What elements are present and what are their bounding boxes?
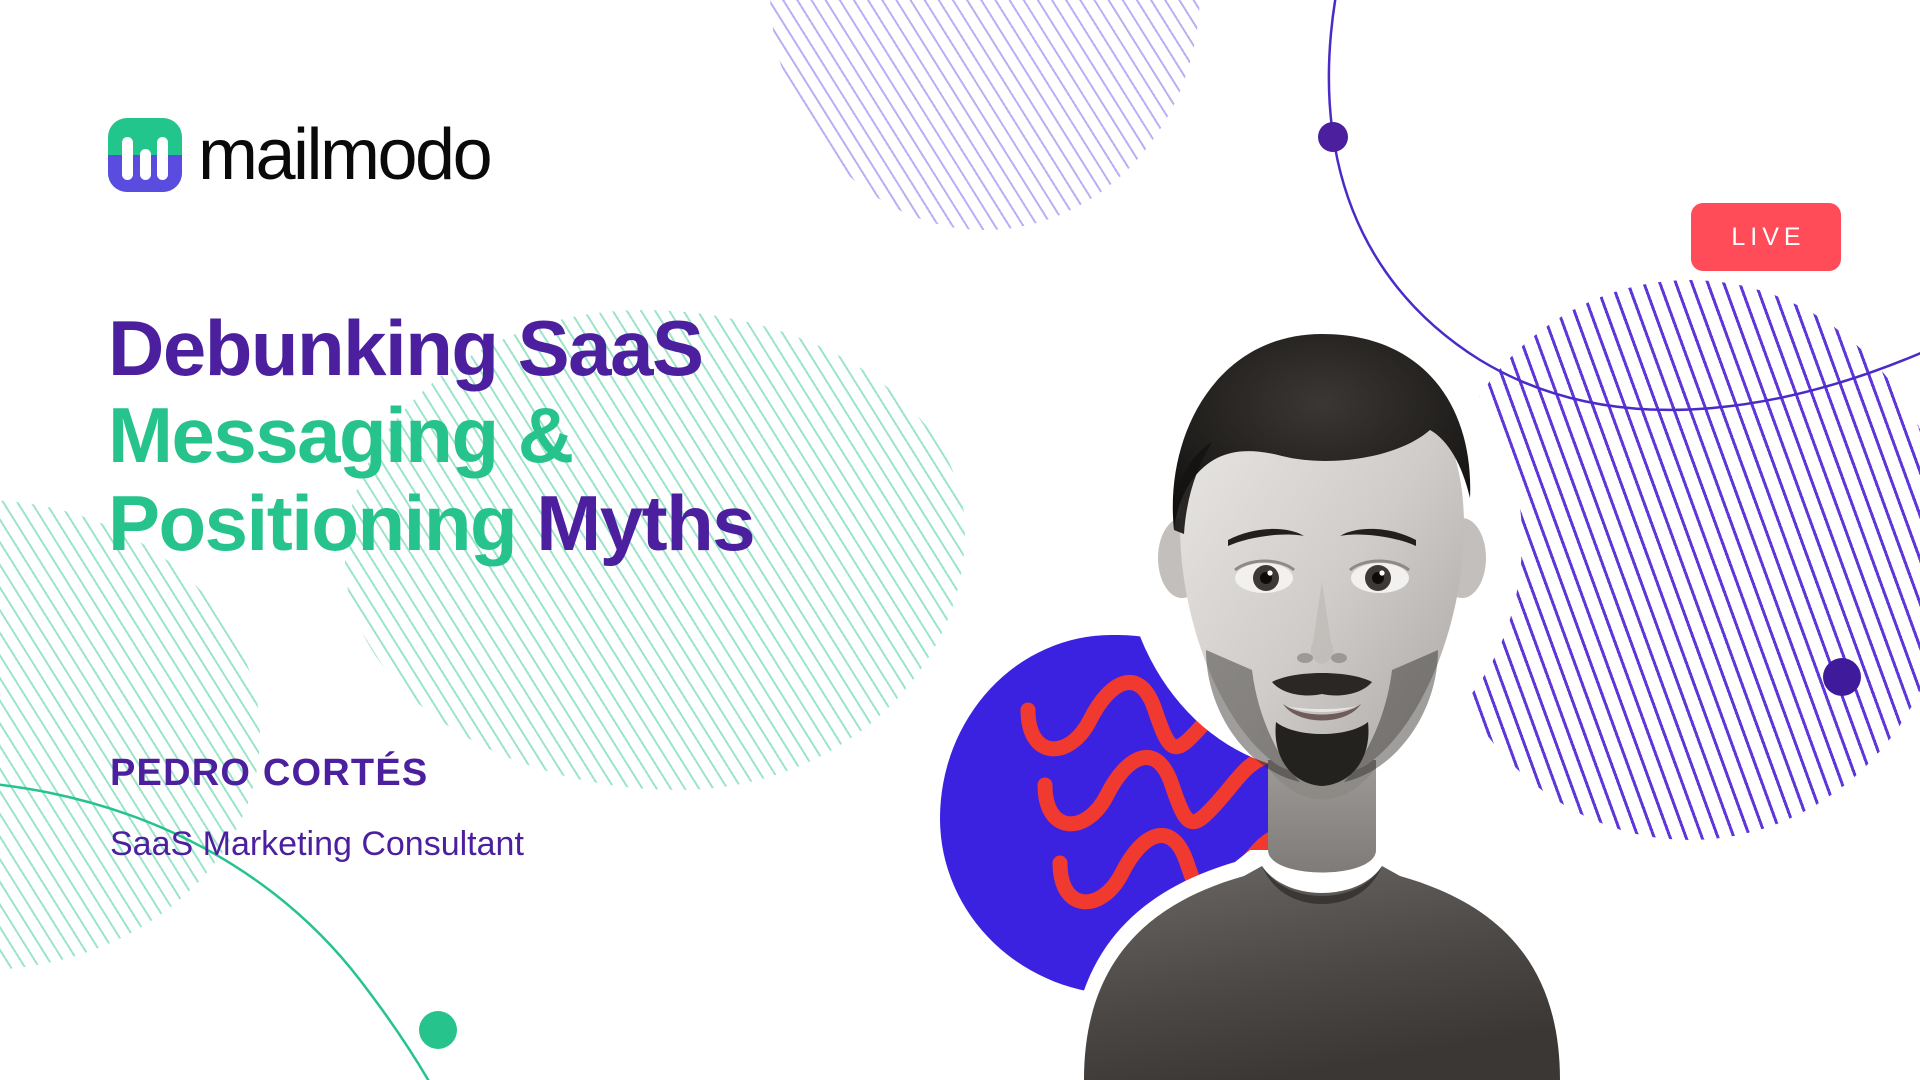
brand-wordmark: mailmodo (198, 119, 490, 191)
webinar-promo-banner: mailmodo LIVE Debunking SaaS Messaging &… (0, 0, 1920, 1080)
brand-logo[interactable]: mailmodo (108, 118, 490, 192)
speaker-role: SaaS Marketing Consultant (110, 825, 524, 864)
page-title: Debunking SaaS Messaging & Positioning M… (108, 305, 1008, 567)
headline-line-2: Messaging & (108, 392, 1008, 479)
live-badge-label: LIVE (1726, 223, 1805, 252)
speaker-name: PEDRO CORTÉS (110, 752, 428, 795)
headline-line-3-purple: Myths (536, 479, 754, 567)
headline-line-3-green: Positioning (108, 479, 536, 567)
mailmodo-logo-icon (108, 118, 182, 192)
headline-line-3: Positioning Myths (108, 480, 1008, 567)
status-badge-live: LIVE (1691, 203, 1841, 271)
headline-line-1: Debunking SaaS (108, 305, 1008, 392)
